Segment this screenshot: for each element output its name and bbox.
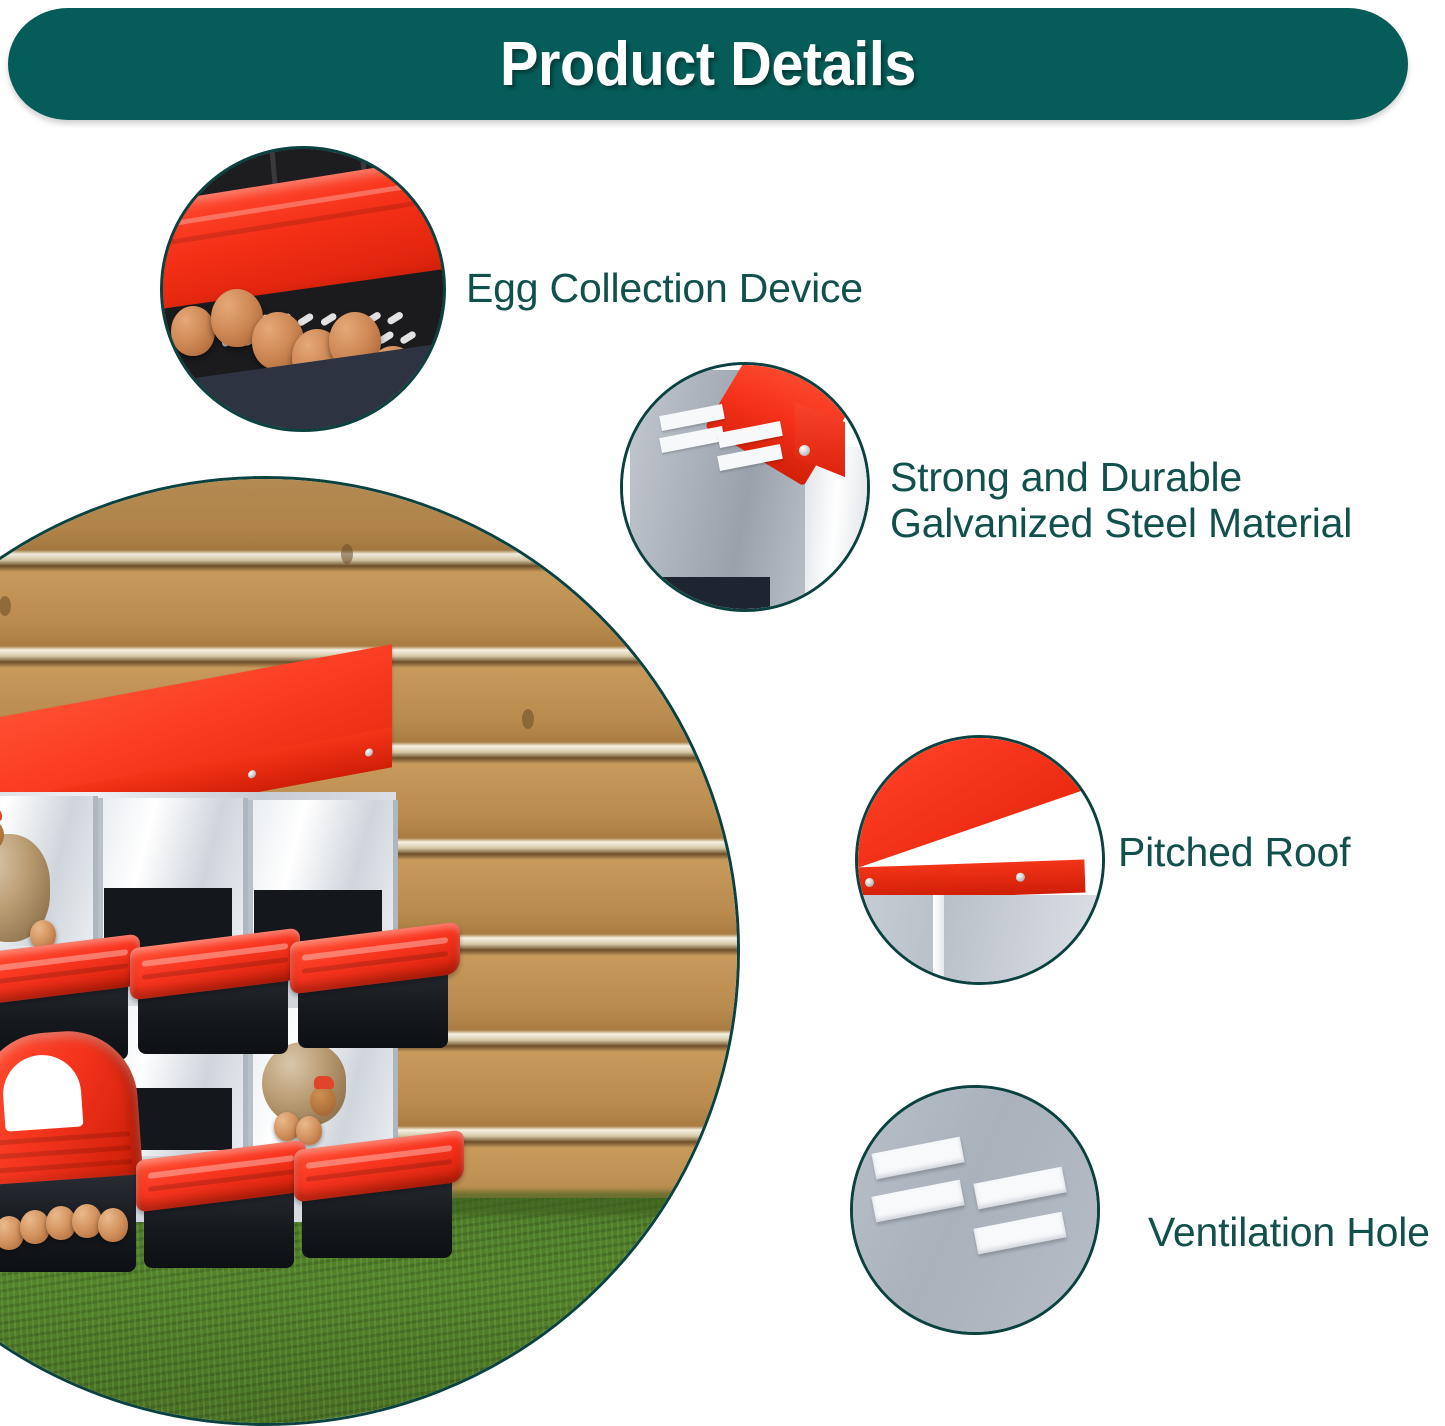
page-title: Product Details	[57, 8, 1359, 120]
callout-image-pitched-roof	[855, 735, 1105, 985]
ventilation-slot	[871, 1137, 964, 1180]
page-header-banner: Product Details	[8, 8, 1408, 120]
callout-image-ventilation-hole	[850, 1085, 1100, 1335]
egg	[98, 1208, 128, 1242]
ventilation-slot	[871, 1179, 964, 1222]
ventilation-slot	[973, 1167, 1066, 1210]
hen	[262, 1042, 346, 1126]
egg	[171, 306, 215, 356]
callout-label-pitched-roof: Pitched Roof	[1118, 830, 1350, 876]
rivet	[864, 878, 873, 887]
red-roof-sliver	[1024, 1085, 1100, 1155]
callout-label-ventilation-hole: Ventilation Hole	[1148, 1210, 1430, 1256]
callout-label-galvanized-steel: Strong and Durable Galvanized Steel Mate…	[890, 455, 1352, 547]
product-scene	[0, 476, 740, 1426]
main-product-photo	[0, 476, 740, 1426]
screw	[799, 445, 810, 456]
chicken-nesting-box	[0, 676, 442, 1296]
callout-label-egg-collection: Egg Collection Device	[466, 266, 863, 312]
steel-body-below-roof	[855, 895, 1105, 985]
egg-collection-illustration	[160, 146, 446, 432]
ventilation-hole-illustration	[850, 1085, 1100, 1335]
ventilation-slot	[973, 1212, 1066, 1255]
rivet	[1015, 873, 1024, 882]
pitched-roof-illustration	[855, 735, 1105, 985]
divider-post	[933, 895, 944, 985]
callout-image-egg-collection	[160, 146, 446, 432]
